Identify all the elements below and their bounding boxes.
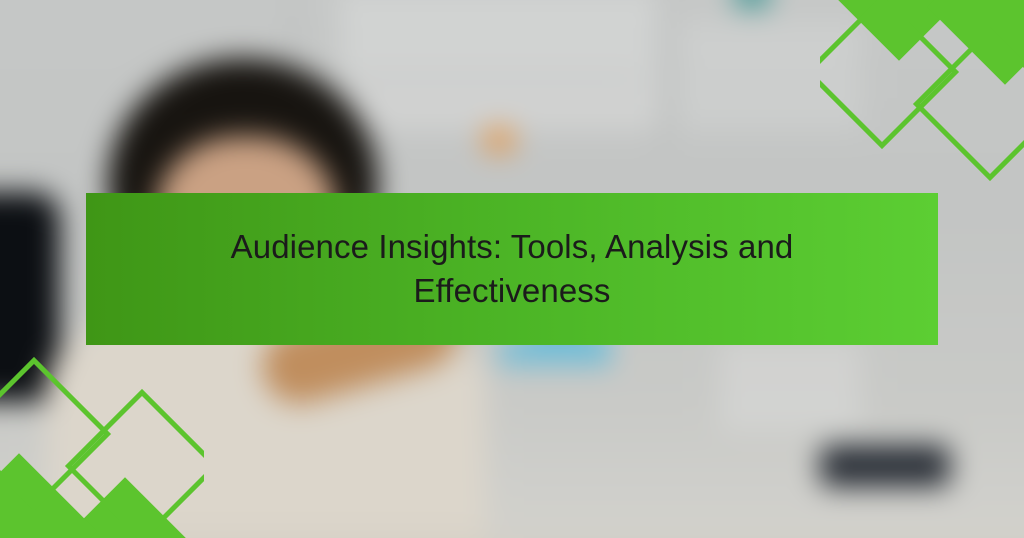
whiteboard-panel bbox=[340, 0, 660, 130]
whiteboard-frame-line bbox=[340, 78, 640, 81]
orange-marker-blob bbox=[484, 128, 514, 152]
desk-surface bbox=[0, 518, 1024, 538]
page-title-line: Audience Insights: Tools, Analysis and bbox=[231, 228, 794, 265]
whiteboard-frame-line bbox=[660, 0, 664, 150]
whiteboard-panel bbox=[720, 340, 860, 430]
desk-object bbox=[820, 445, 950, 487]
whiteboard-panel bbox=[680, 20, 860, 130]
featured-image-banner: Audience Insights: Tools, Analysis andEf… bbox=[0, 0, 1024, 538]
teal-sticky-note bbox=[735, 0, 769, 8]
title-banner-band: Audience Insights: Tools, Analysis andEf… bbox=[86, 193, 938, 345]
page-title: Audience Insights: Tools, Analysis andEf… bbox=[126, 225, 898, 312]
page-title-line: Effectiveness bbox=[414, 272, 611, 309]
